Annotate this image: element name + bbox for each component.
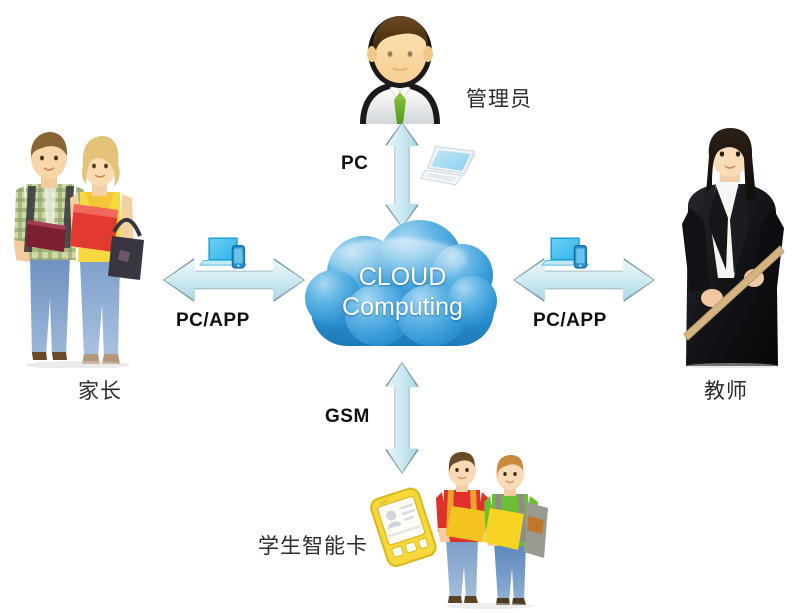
cloud-title-line1: CLOUD	[359, 263, 447, 291]
student-photo	[432, 450, 552, 610]
laptop-phone-icon	[540, 234, 592, 274]
admin-avatar	[346, 12, 454, 124]
cloud-title-line2: Computing	[342, 293, 463, 321]
laptop-phone-icon	[198, 234, 250, 274]
admin-laptop-icon	[420, 142, 480, 199]
connection-admin-label: PC	[341, 153, 368, 175]
photo-students	[432, 450, 552, 610]
diagram-canvas: 管理员 PC	[0, 0, 800, 613]
parent-photo	[8, 128, 158, 368]
connection-teacher-label: PC/APP	[533, 310, 607, 332]
cloud-text: CLOUD Computing	[305, 262, 500, 322]
teacher-label: 教师	[704, 375, 748, 405]
connection-parent-label: PC/APP	[176, 310, 250, 332]
connection-student-label: GSM	[325, 406, 370, 428]
cloud-node[interactable]: CLOUD Computing	[305, 218, 500, 363]
avatar-icon	[346, 12, 454, 124]
parent-device-icon	[198, 234, 250, 279]
laptop-icon	[420, 142, 480, 194]
admin-label: 管理员	[466, 83, 532, 113]
connection-admin-arrow	[385, 122, 419, 228]
teacher-photo	[668, 128, 798, 368]
teacher-device-icon	[540, 234, 592, 279]
connection-student-arrow	[385, 362, 419, 474]
student-label: 学生智能卡	[258, 530, 368, 560]
photo-teacher	[668, 128, 798, 368]
photo-parents	[8, 128, 158, 368]
parent-label: 家长	[78, 375, 122, 405]
